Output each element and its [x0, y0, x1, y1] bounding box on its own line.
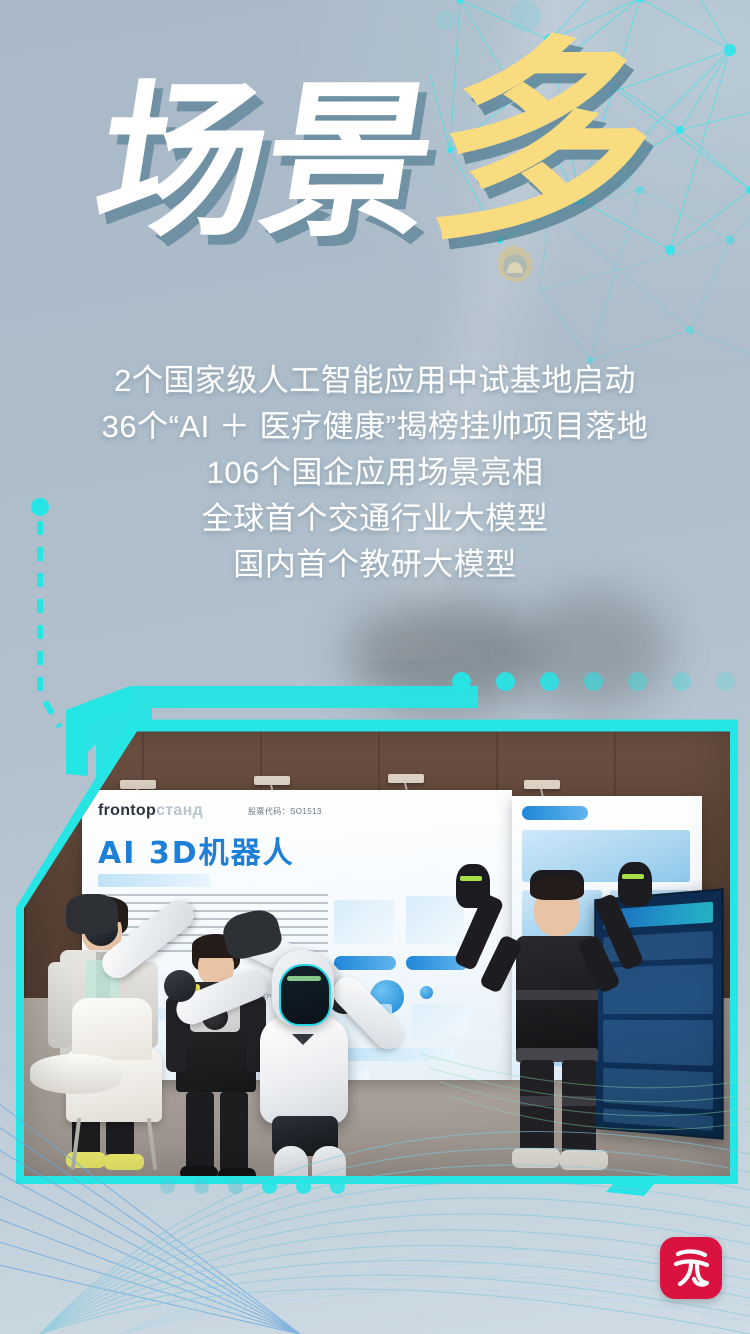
headline-block: 场景多 [0, 78, 750, 328]
headline-accent: 多 [420, 36, 668, 252]
body-line: 2个国家级人工智能应用中试基地启动 [0, 358, 750, 404]
dot-row-bottom [160, 1179, 410, 1197]
body-line: 106个国企应用场景亮相 [0, 450, 750, 496]
poster-root: 场景多 2个国家级人工智能应用中试基地启动 36个“AI ＋ 医疗健康”揭榜挂帅… [0, 0, 750, 1334]
headline-white: 场景 [86, 78, 445, 246]
brand-logo[interactable] [660, 1237, 722, 1299]
body-line: 36个“AI ＋ 医疗健康”揭榜挂帅项目落地 [0, 404, 750, 450]
gear-icon [487, 239, 543, 295]
logo-glyph-icon [660, 1237, 722, 1299]
